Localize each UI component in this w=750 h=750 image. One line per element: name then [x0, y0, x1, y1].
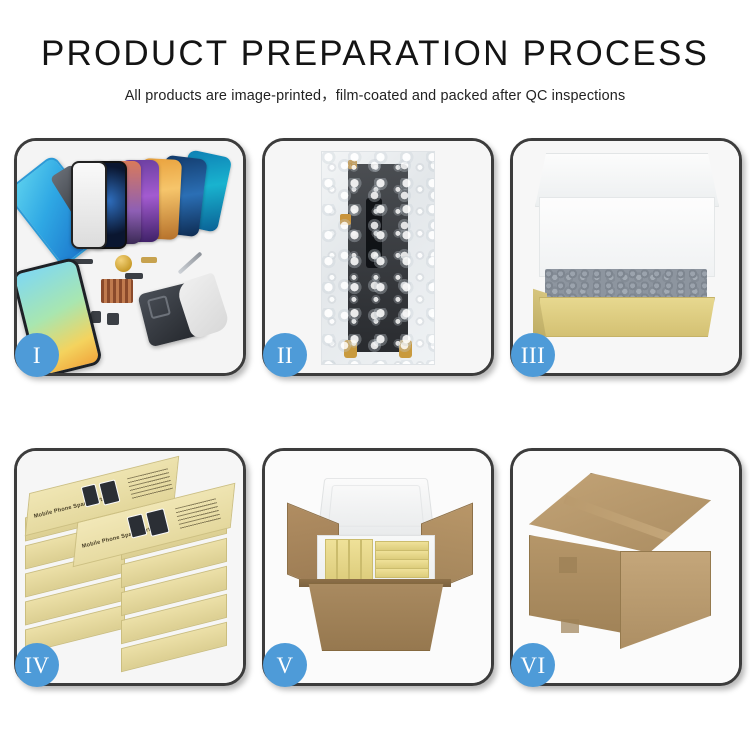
process-step-1: I — [14, 138, 246, 376]
bubble-wrap-bag — [321, 151, 435, 365]
process-step-6: VI — [510, 448, 742, 686]
page-subtitle: All products are image-printed，film-coat… — [0, 84, 750, 105]
bubble-texture — [322, 152, 434, 364]
phone-fan-group — [83, 153, 233, 245]
box-front-panel — [539, 297, 715, 337]
carton-tab-lower — [561, 619, 579, 633]
part-gold-icon — [141, 257, 157, 263]
part-flex-icon — [125, 273, 143, 279]
step-badge-2: II — [263, 333, 307, 377]
product-preparation-infographic: PRODUCT PREPARATION PROCESS All products… — [0, 0, 750, 750]
page-title: PRODUCT PREPARATION PROCESS — [0, 36, 750, 73]
gold-coil-icon — [115, 255, 132, 272]
process-step-3: III — [510, 138, 742, 376]
carton-right-face — [620, 551, 711, 649]
yellow-box-item — [361, 539, 373, 581]
foam-sheet — [539, 197, 715, 277]
carton-tab-upper — [559, 557, 577, 573]
step-badge-5: V — [263, 643, 307, 687]
step-badge-6: VI — [511, 643, 555, 687]
step-badge-1: I — [15, 333, 59, 377]
box-stack: Mobile Phone Spare Parts Mobile Phone Sp… — [25, 469, 237, 665]
yellow-box-item — [325, 539, 337, 581]
step-badge-3: III — [511, 333, 555, 377]
header: PRODUCT PREPARATION PROCESS All products… — [0, 0, 750, 105]
process-step-5: V — [262, 448, 494, 686]
part-camera-icon — [107, 313, 119, 325]
bubble-wrap-layer — [545, 269, 707, 301]
carton-front-panel — [301, 583, 451, 651]
yellow-box-item — [337, 539, 349, 581]
process-step-4: Mobile Phone Spare Parts Mobile Phone Sp… — [14, 448, 246, 686]
phone-glass-protector-icon — [71, 161, 107, 249]
yellow-box-item — [349, 539, 361, 581]
step-badge-4: IV — [15, 643, 59, 687]
process-step-grid: I II — [14, 138, 736, 680]
process-step-2: II — [262, 138, 494, 376]
yellow-box-item — [375, 568, 429, 578]
tweezers-icon — [178, 251, 203, 274]
circuit-board-icon — [101, 279, 133, 303]
